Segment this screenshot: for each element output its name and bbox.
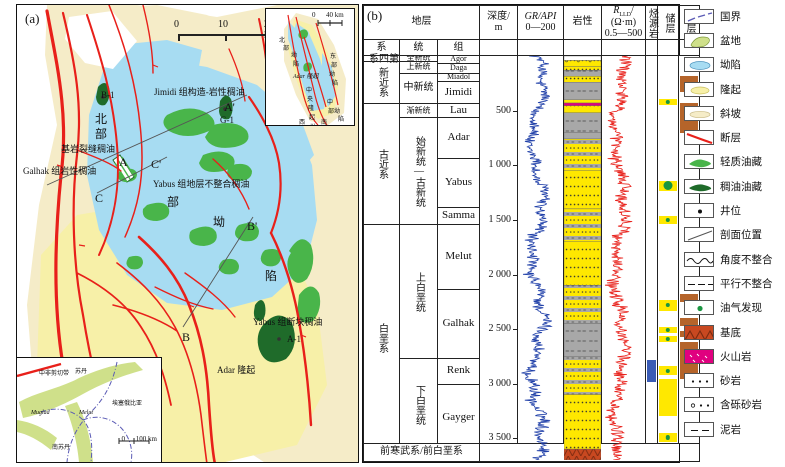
legend-label-4: 斜坡	[720, 106, 741, 121]
panel-b-stratigraphic-column: 地层 深度/ m GR/API 0—200 岩性 RLLD/ (Ω·m) 0.5…	[362, 4, 680, 463]
formation-label-10: Renk	[447, 365, 470, 377]
inset-map-basin: 0 40 km 北部坳陷东部坳陷Adar 隆起中央隆起中部坳陷西部坳南部	[265, 8, 355, 126]
legend-item-jiaodu: 角度不整合	[684, 247, 782, 271]
legend-label-1: 盆地	[720, 33, 741, 48]
header-source-text: 烃源岩	[647, 8, 657, 38]
formation-label-2: Miadol	[447, 73, 470, 81]
map-label-12: 部	[167, 193, 179, 210]
hanlishayan-icon	[684, 397, 714, 412]
series-4: 始新统—古新统	[400, 117, 437, 224]
legend-label-11: 平行不整合	[720, 276, 773, 291]
system-2: 古近系	[364, 103, 399, 224]
legend-item-qingzhi: 轻质油藏	[684, 150, 782, 174]
inset-sw-scale-1: 100 km	[136, 435, 157, 443]
legend-label-9: 剖面位置	[720, 227, 762, 242]
inset-sw-label-1: 苏丹	[75, 366, 87, 375]
xiepo-icon	[684, 106, 714, 121]
series-5: 上白垩统	[400, 224, 437, 357]
legend-item-hanlishayan: 含砾砂岩	[684, 393, 782, 417]
system-label-2: 古近系	[377, 149, 387, 179]
inset-ne-label-10: 央	[307, 94, 313, 103]
youqi-icon	[684, 300, 714, 315]
legend-label-12: 油气发现	[720, 300, 762, 315]
map-label-7: A	[119, 155, 128, 170]
system-label-1: 新近系	[377, 67, 387, 97]
pendi-icon	[684, 33, 714, 48]
map-label-18: B	[182, 330, 190, 345]
scalebar-tick-0: 0	[174, 19, 179, 30]
inset-ne-label-16: 陷	[338, 114, 344, 123]
legend-item-duanceng: 断层	[684, 125, 782, 149]
legend-item-pendi: 盆地	[684, 28, 782, 52]
legend-item-huoshanyan: 火山岩	[684, 344, 782, 368]
depth-tick-500: 500	[496, 106, 511, 117]
formation-melut: Melut	[438, 224, 479, 288]
depth-tickmark-2	[513, 220, 517, 221]
header-depth-unit: m	[480, 23, 517, 34]
map-label-5: G-1	[220, 115, 234, 125]
legend-item-shayan: 砂岩	[684, 368, 782, 392]
aoxian-icon	[684, 57, 714, 72]
inset-sw-label-3: Melut	[79, 410, 93, 416]
figure-root: (a) 0 10 20 km B-1北部Jimidi 组构造-岩性稠油A'G-1…	[0, 0, 785, 467]
formation-label-11: Gayger	[442, 412, 474, 424]
inset-ne-label-9: 中	[306, 85, 312, 94]
depth-tickmark-1	[513, 165, 517, 166]
header-depth: 深度/ m	[480, 6, 518, 40]
jingwei-icon	[684, 203, 714, 218]
map-label-13: 坳	[213, 213, 225, 230]
formation-samma: Samma	[438, 207, 479, 224]
niyan-icon	[684, 422, 714, 437]
inset-ne-label-5: 部	[331, 60, 337, 69]
guojie-icon	[684, 9, 714, 24]
panel-a-label: (a)	[25, 11, 39, 27]
huoshanyan-icon	[684, 349, 714, 364]
header-lithology: 岩性	[564, 6, 602, 40]
depth-tickmark-4	[513, 329, 517, 330]
inset-ne-label-1: 部	[283, 43, 289, 52]
map-label-15: 陷	[265, 267, 277, 284]
legend-label-7: 稠油油藏	[720, 179, 762, 194]
formation-lau: Lau	[438, 103, 479, 117]
formation-label-3: Jimidi	[445, 87, 473, 99]
shayan-icon	[684, 373, 714, 388]
map-label-3: Jimidi 组构造-岩性稠油	[154, 85, 245, 98]
lithology-track	[564, 56, 602, 444]
inset-ne-label-18: 部	[301, 123, 307, 126]
pingxing-icon	[684, 276, 714, 291]
legend-item-aoxian: 坳陷	[684, 53, 782, 77]
header-reservoir: 储层	[658, 6, 679, 40]
series-2: 中新统	[400, 73, 437, 104]
inset-sw-label-4: 南苏丹	[52, 442, 70, 451]
formation-label-1: Daga	[450, 64, 467, 72]
inset-sw-label-0: 中非剪切带	[39, 368, 69, 377]
system-label-3: 白垩系	[377, 323, 387, 353]
inset-sw-label-5: 埃塞俄比亚	[112, 398, 142, 407]
source-interval-0	[647, 360, 656, 382]
header-resistivity: RLLD/ (Ω·m) 0.5—500	[602, 6, 646, 40]
strat-table: 地层 深度/ m GR/API 0—200 岩性 RLLD/ (Ω·m) 0.5…	[363, 5, 700, 462]
legend-label-17: 泥岩	[720, 422, 741, 437]
header-source-rock: 烃源岩	[646, 6, 658, 40]
qingzhi-icon	[684, 154, 714, 169]
jidi-icon	[684, 325, 714, 340]
formation-jimidi: Jimidi	[438, 81, 479, 103]
formation-miadol: Miadol	[438, 73, 479, 82]
series-label-4: 始新统—古新统	[414, 136, 424, 207]
map-label-10: Yabus 组地层不整合稠油	[153, 177, 249, 190]
depth-tick-3500: 3 500	[489, 433, 512, 444]
depth-tick-1000: 1 000	[489, 160, 512, 171]
oil-discovery-dot-1	[664, 181, 673, 190]
header-series: 统	[400, 40, 438, 56]
depth-axis: 5001 0001 5002 0002 5003 0003 500	[480, 56, 517, 443]
legend-label-16: 含砾砂岩	[720, 397, 762, 412]
series-label-1: 上新统	[407, 63, 431, 71]
inset-ne-label-13: 中	[327, 97, 333, 106]
header-gr: GR/API 0—200	[518, 6, 564, 40]
header-res-range: 0.5—500	[602, 29, 645, 40]
legend-item-jingwei: 井位	[684, 198, 782, 222]
depth-tick-3000: 3 000	[489, 379, 512, 390]
legend-label-8: 井位	[720, 203, 741, 218]
inset-map-sudan: 中非剪切带苏丹MugladMelut南苏丹埃塞俄比亚 0 100 km	[16, 357, 162, 463]
inset-sw-scale-0: 0	[122, 435, 126, 443]
jiaodu-icon	[684, 252, 714, 267]
duanceng-icon	[684, 130, 714, 145]
system-1: 新近系	[364, 61, 399, 104]
longqi-icon	[684, 82, 714, 97]
formation-label-4: Lau	[450, 105, 467, 117]
series-1: 上新统	[400, 61, 437, 73]
depth-tick-2500: 2 500	[489, 324, 512, 335]
legend-item-poumian: 剖面位置	[684, 223, 782, 247]
map-label-17: A-1	[287, 334, 301, 344]
inset-ne-label-2: 坳	[291, 50, 297, 59]
header-gr-range: 0—200	[518, 23, 563, 34]
inset-sw-label-2: Muglad	[31, 410, 50, 416]
legend-label-14: 火山岩	[720, 349, 752, 364]
map-label-8: C'	[151, 157, 161, 172]
depth-tickmark-0	[513, 111, 517, 112]
inset-ne-scale-0: 0	[312, 11, 316, 19]
map-label-16: Yabus 组断块稠油	[253, 315, 322, 328]
map-label-11: C	[95, 191, 103, 206]
formation-gayger: Gayger	[438, 384, 479, 452]
inset-ne-label-3: 陷	[293, 59, 299, 68]
reservoir-track	[658, 56, 679, 444]
map-label-2: 部	[95, 125, 107, 142]
formation-adar: Adar	[438, 117, 479, 157]
legend-item-jidi: 基底	[684, 320, 782, 344]
scalebar-tick-1: 10	[218, 19, 228, 30]
legend-label-15: 砂岩	[720, 373, 741, 388]
depth-tickmark-5	[513, 384, 517, 385]
map-label-6: 基岩裂缝稠油	[61, 142, 115, 155]
legend-label-5: 断层	[720, 130, 741, 145]
series-6: 下白垩统	[400, 358, 437, 452]
system-3: 白垩系	[364, 224, 399, 451]
series-label-3: 渐新统	[407, 107, 431, 115]
source-rock-track	[646, 56, 658, 444]
legend-label-10: 角度不整合	[720, 252, 773, 267]
depth-tickmark-6	[513, 438, 517, 439]
inset-ne-label-6: 坳	[329, 69, 335, 78]
legend-item-youqi: 油气发现	[684, 296, 782, 320]
reservoir-interval-7	[659, 379, 677, 415]
map-label-4: A'	[224, 100, 235, 115]
legend-item-guojie: 国界	[684, 4, 782, 28]
legend-label-3: 隆起	[720, 82, 741, 97]
legend-label-0: 国界	[720, 9, 741, 24]
inset-ne-label-21: 部	[322, 124, 328, 126]
formation-yabus: Yabus	[438, 158, 479, 207]
formation-galhak: Galhak	[438, 289, 479, 358]
depth-tick-2000: 2 000	[489, 269, 512, 280]
formation-daga: Daga	[438, 63, 479, 73]
inset-ne-label-12: 起	[309, 112, 315, 121]
legend-label-2: 坳陷	[720, 57, 741, 72]
map-label-9: Galhak 组岩性稠油	[23, 164, 96, 177]
inset-ne-scale-1: 40 km	[326, 11, 344, 19]
inset-ne-label-4: 东	[330, 51, 336, 60]
legend-panel: 国界盆地坳陷隆起斜坡断层轻质油藏稠油油藏井位剖面位置角度不整合平行不整合油气发现…	[684, 4, 782, 463]
series-label-2: 中新统	[404, 83, 434, 93]
header-formation: 组	[438, 40, 480, 56]
legend-item-niyan: 泥岩	[684, 417, 782, 441]
inset-ne-label-11: 隆	[308, 103, 314, 112]
legend-label-6: 轻质油藏	[720, 154, 762, 169]
inset-ne-label-7: 陷	[332, 78, 338, 87]
legend-item-xiepo: 斜坡	[684, 101, 782, 125]
inset-ne-label-8: Adar 隆起	[293, 71, 319, 80]
formation-label-6: Yabus	[445, 177, 472, 189]
chouyou-icon	[684, 179, 714, 194]
formation-label-7: Samma	[442, 210, 475, 222]
formation-label-5: Adar	[448, 132, 470, 144]
formation-label-8: Melut	[445, 251, 471, 263]
formation-label-9: Galhak	[443, 318, 475, 330]
series-3: 渐新统	[400, 103, 437, 117]
inset-ne-label-19: 坳	[310, 122, 316, 126]
resistivity-log-track	[602, 56, 646, 444]
panel-b-label: (b)	[367, 8, 382, 24]
depth-tick-1500: 1 500	[489, 215, 512, 226]
depth-tickmark-3	[513, 275, 517, 276]
series-label-5: 上白垩统	[414, 272, 424, 312]
legend-item-longqi: 隆起	[684, 77, 782, 101]
poumian-icon	[684, 227, 714, 242]
map-label-14: B'	[247, 219, 257, 234]
header-reservoir-text: 储层	[663, 13, 673, 33]
map-label-19: Adar 隆起	[217, 363, 255, 376]
legend-item-pingxing: 平行不整合	[684, 271, 782, 295]
gr-log-track	[518, 56, 564, 444]
map-label-0: B-1	[101, 90, 115, 100]
panel-a-map: (a) 0 10 20 km B-1北部Jimidi 组构造-岩性稠油A'G-1…	[16, 4, 359, 463]
formation-renk: Renk	[438, 358, 479, 384]
legend-item-chouyou: 稠油油藏	[684, 174, 782, 198]
legend-label-13: 基底	[720, 325, 741, 340]
series-label-6: 下白垩统	[414, 385, 424, 425]
